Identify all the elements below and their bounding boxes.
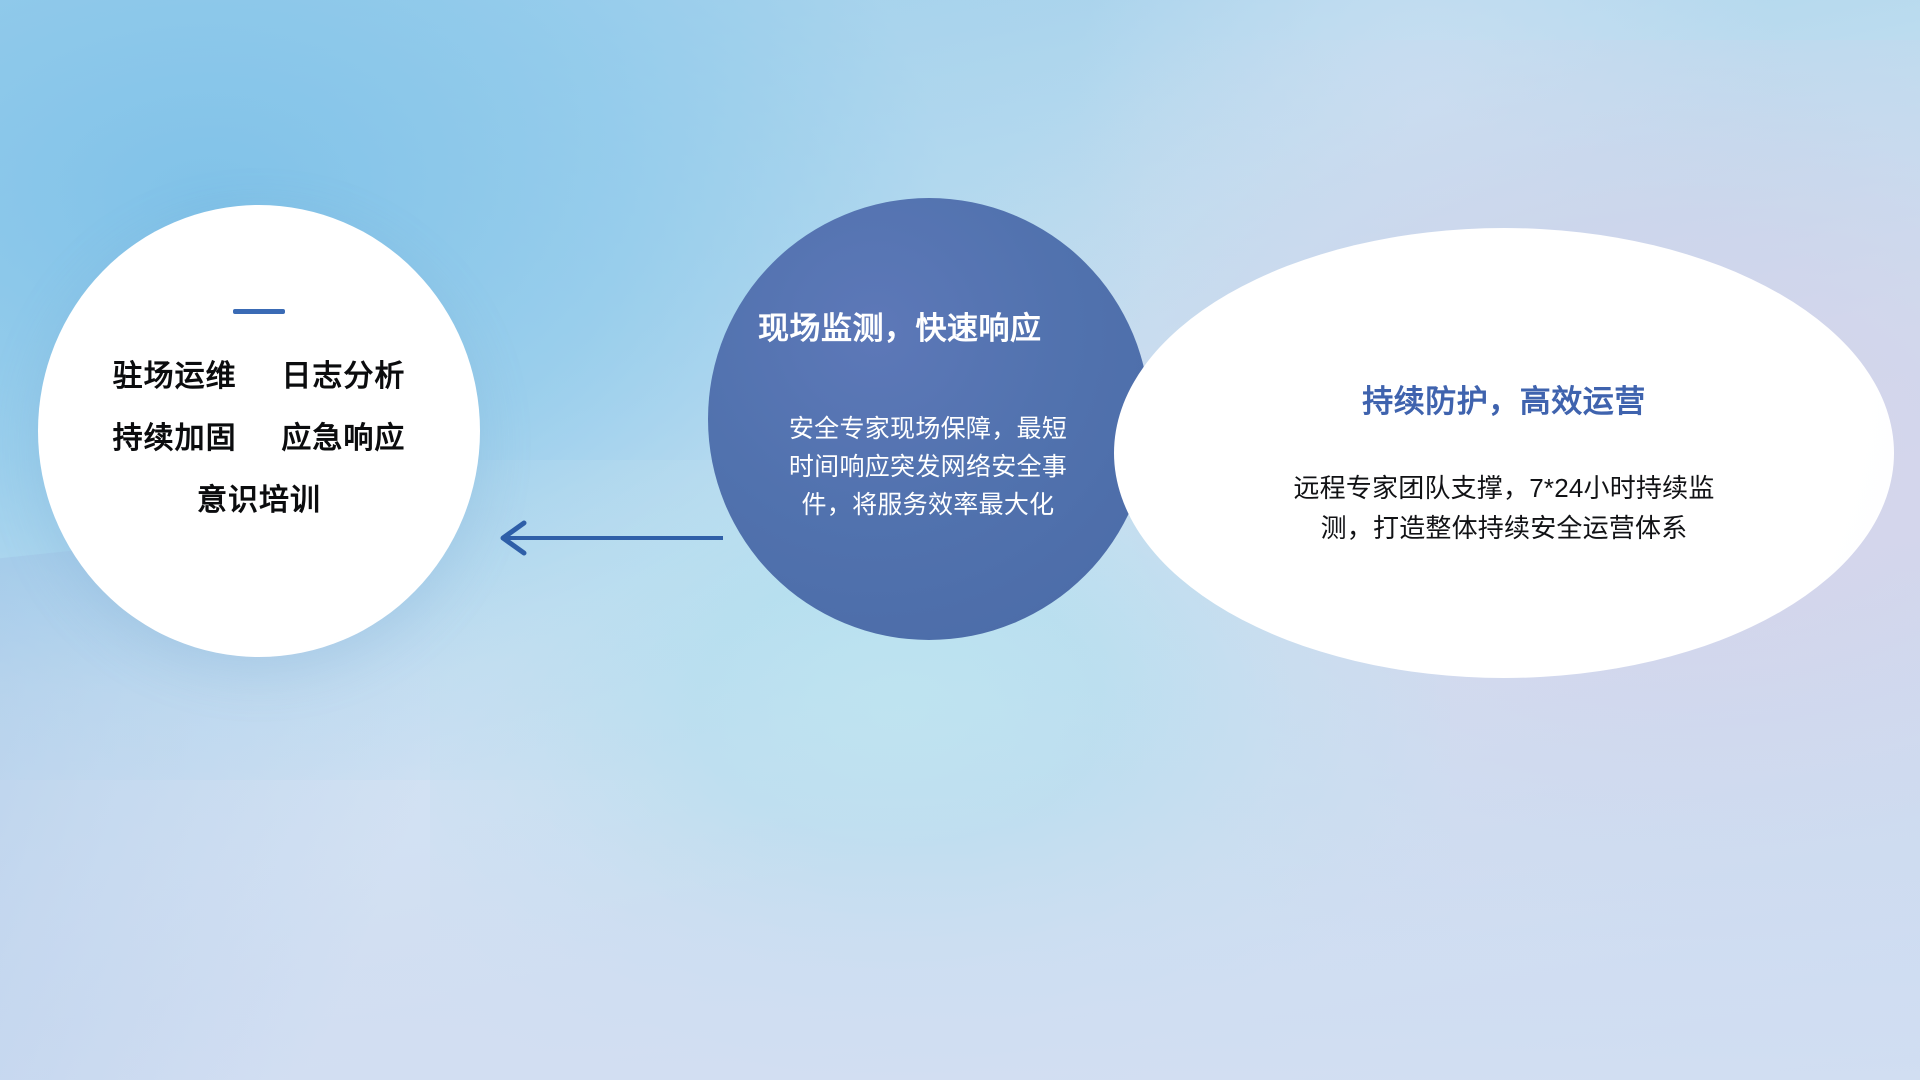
arrow-left-icon	[480, 500, 740, 576]
capability-label: 驻场运维	[113, 360, 237, 393]
capability-circle-middle: 现场监测，快速响应 安全专家现场保障，最短时间响应突发网络安全事件，将服务效率最…	[708, 198, 1150, 640]
capability-row: 意识培训	[197, 486, 321, 516]
middle-circle-body: 安全专家现场保障，最短时间响应突发网络安全事件，将服务效率最大化	[778, 410, 1078, 524]
right-circle-body: 远程专家团队支撑，7*24小时持续监测，打造整体持续安全运营体系	[1284, 469, 1724, 548]
capability-row: 驻场运维 日志分析	[113, 362, 406, 392]
capability-label: 日志分析	[281, 360, 405, 393]
capability-label: 意识培训	[197, 484, 321, 517]
slide-canvas: 驻场运维 日志分析 持续加固 应急响应 意识培训 现场监测，快速响应 安全专家现…	[0, 0, 1920, 1080]
capability-label: 持续加固	[113, 422, 237, 455]
middle-circle-title: 现场监测，快速响应	[758, 303, 1158, 348]
capability-label: 应急响应	[281, 422, 405, 455]
left-circle-content: 驻场运维 日志分析 持续加固 应急响应 意识培训	[38, 205, 480, 657]
right-circle-content: 持续防护，高效运营 远程专家团队支撑，7*24小时持续监测，打造整体持续安全运营…	[1114, 228, 1894, 678]
right-circle-title: 持续防护，高效运营	[1362, 376, 1646, 421]
divider-dash	[233, 309, 285, 314]
middle-circle-content: 现场监测，快速响应 安全专家现场保障，最短时间响应突发网络安全事件，将服务效率最…	[708, 198, 1150, 640]
capability-circle-left: 驻场运维 日志分析 持续加固 应急响应 意识培训	[38, 205, 480, 657]
capability-circle-right: 持续防护，高效运营 远程专家团队支撑，7*24小时持续监测，打造整体持续安全运营…	[1114, 228, 1894, 678]
capability-row: 持续加固 应急响应	[113, 424, 406, 454]
